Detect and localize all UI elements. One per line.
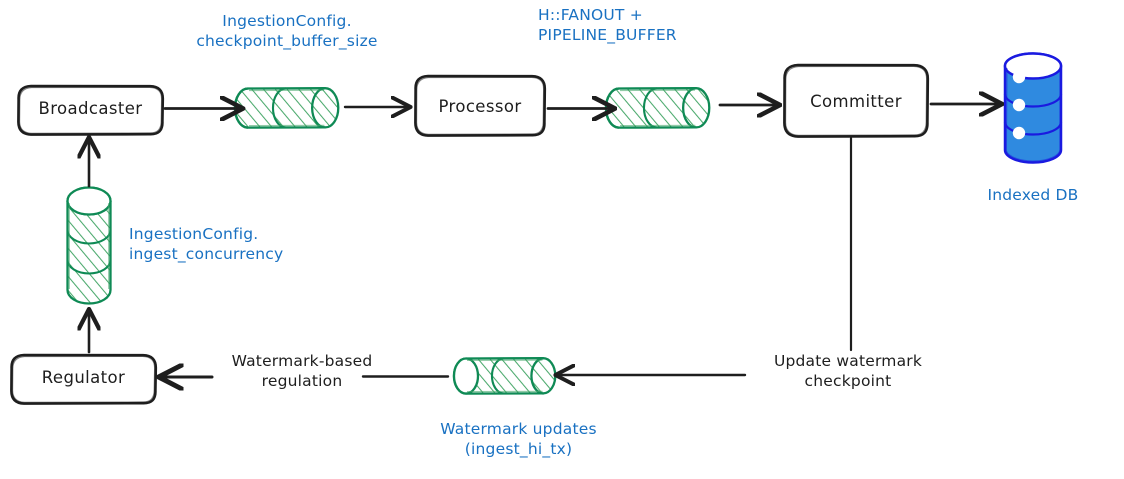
node-label-regulator: Regulator (11, 367, 156, 388)
diagram-canvas: Broadcaster Processor Committer Regulato… (0, 0, 1124, 479)
buffer-checkpoint-cylinder (235, 88, 338, 127)
annotation-watermark-updates: Watermark updates (ingest_hi_tx) (396, 420, 641, 460)
node-label-committer: Committer (784, 91, 928, 112)
buffer-pipeline-cylinder (606, 88, 709, 127)
annotation-checkpoint-buffer-size: IngestionConfig. checkpoint_buffer_size (167, 12, 407, 52)
buffer-watermark-cylinder (454, 358, 555, 393)
buffer-ingest-concurrency-cylinder (68, 188, 111, 304)
node-indexed-db[interactable] (1005, 53, 1061, 162)
edge-label-watermark-regulation: Watermark-based regulation (212, 352, 392, 392)
annotation-pipeline-buffer: H::FANOUT + PIPELINE_BUFFER (538, 6, 798, 46)
node-label-broadcaster: Broadcaster (18, 98, 163, 119)
edge-label-update-watermark-checkpoint: Update watermark checkpoint (748, 352, 948, 392)
annotation-ingest-concurrency: IngestionConfig. ingest_concurrency (129, 225, 379, 265)
label-indexed-db: Indexed DB (963, 186, 1103, 206)
node-label-processor: Processor (415, 96, 545, 117)
